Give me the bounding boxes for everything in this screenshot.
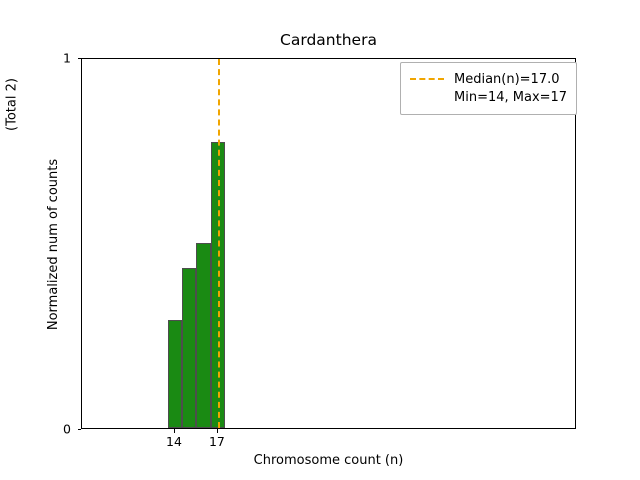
legend-entry: Min=14, Max=17: [410, 88, 567, 106]
chart-figure: Cardanthera 1417 01 Chromosome count (n)…: [0, 0, 640, 480]
x-tick-label: 17: [209, 434, 225, 449]
bar: [196, 243, 210, 429]
y-tick-label: 1: [63, 51, 71, 66]
chart-legend: Median(n)=17.0Min=14, Max=17: [400, 62, 577, 115]
x-tick-mark: [217, 429, 218, 433]
x-axis-label: Chromosome count (n): [81, 453, 576, 468]
y-tick-label: 0: [63, 422, 71, 437]
median-line: [218, 59, 220, 428]
y-axis-label: Normalized num of counts: [46, 59, 61, 430]
y-axis-total-label: (Total 2): [5, 5, 20, 205]
legend-dashed-line-icon: [410, 78, 444, 80]
legend-entry: Median(n)=17.0: [410, 70, 567, 88]
legend-label: Min=14, Max=17: [454, 90, 567, 105]
bar: [182, 268, 196, 428]
x-tick-mark: [174, 429, 175, 433]
bar: [168, 320, 182, 428]
chart-title: Cardanthera: [81, 30, 576, 50]
x-tick-label: 14: [166, 434, 182, 449]
legend-label: Median(n)=17.0: [454, 72, 560, 87]
y-tick-mark: [78, 429, 82, 430]
y-tick-mark: [78, 58, 82, 59]
